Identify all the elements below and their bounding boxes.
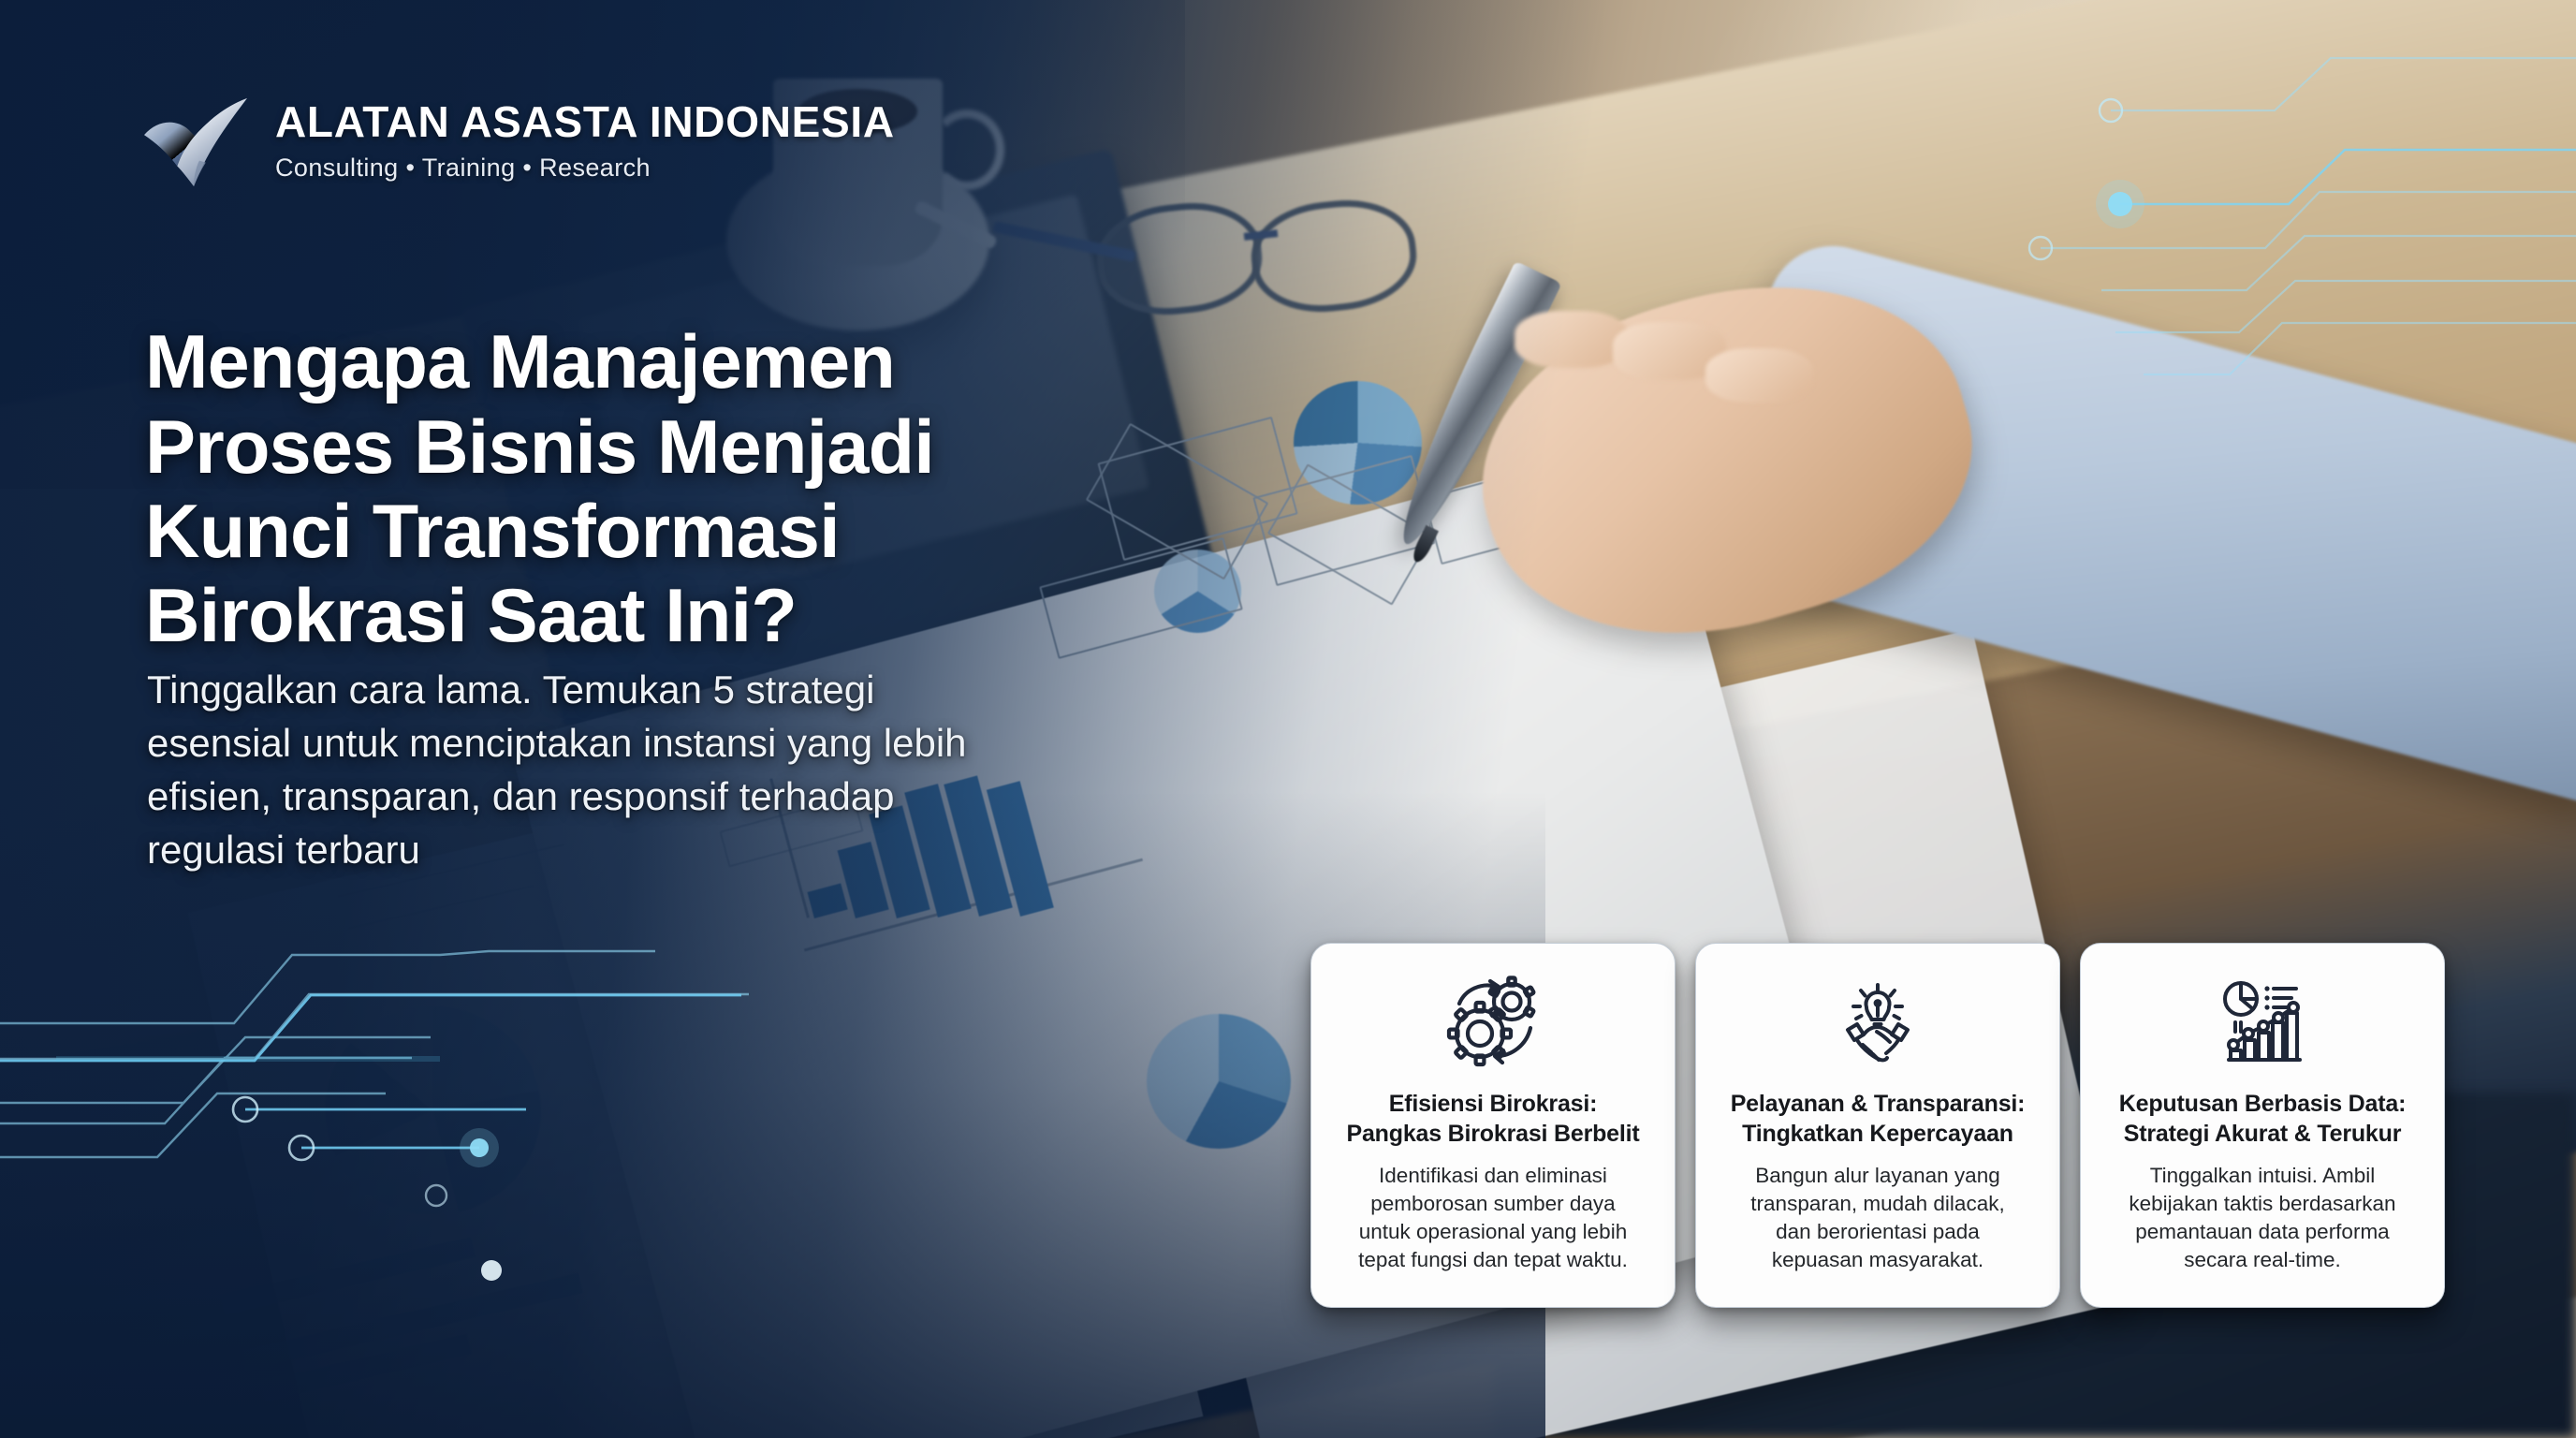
brand-tagline: Consulting • Training • Research: [275, 154, 895, 183]
card-body: Bangun alur layanan yang transparan, mud…: [1750, 1162, 2004, 1274]
card-body-line-4: secara real-time.: [2184, 1248, 2341, 1271]
card-title: Efisiensi Birokrasi: Pangkas Birokrasi B…: [1347, 1090, 1640, 1149]
card-title-line-1: Pelayanan & Transparansi:: [1731, 1091, 2026, 1117]
card-body-line-2: pemborosan sumber daya: [1370, 1192, 1615, 1215]
subhead-line-3: efisien, transparan, dan responsif terha…: [147, 770, 1186, 823]
card-body: Identifikasi dan eliminasi pemborosan su…: [1358, 1162, 1628, 1274]
brand-name: ALATAN ASASTA INDONESIA: [275, 100, 895, 145]
data-analytics-chart-icon: [2210, 972, 2315, 1077]
gears-process-icon: [1441, 972, 1545, 1077]
card-body-line-1: Tinggalkan intuisi. Ambil: [2150, 1164, 2376, 1187]
feature-card-list: Efisiensi Birokrasi: Pangkas Birokrasi B…: [1310, 943, 2445, 1308]
card-title-line-2: Strategi Akurat & Terukur: [2124, 1121, 2401, 1147]
card-body-line-1: Bangun alur layanan yang: [1755, 1164, 1999, 1187]
card-title: Keputusan Berbasis Data: Strategi Akurat…: [2119, 1090, 2406, 1149]
card-title-line-1: Efisiensi Birokrasi:: [1389, 1091, 1597, 1117]
page-subtitle: Tinggalkan cara lama. Temukan 5 strategi…: [147, 663, 1186, 876]
card-body-line-4: tepat fungsi dan tepat waktu.: [1358, 1248, 1628, 1271]
card-body-line-1: Identifikasi dan eliminasi: [1379, 1164, 1607, 1187]
card-body-line-3: untuk operasional yang lebih: [1359, 1220, 1627, 1243]
subhead-line-1: Tinggalkan cara lama. Temukan 5 strategi: [147, 663, 1186, 716]
headline-line-1: Mengapa Manajemen: [145, 320, 1156, 404]
subhead-line-2: esensial untuk menciptakan instansi yang…: [147, 716, 1186, 770]
card-title-line-2: Pangkas Birokrasi Berbelit: [1347, 1121, 1640, 1147]
card-title-line-1: Keputusan Berbasis Data:: [2119, 1091, 2406, 1117]
card-title-line-2: Tingkatkan Kepercayaan: [1742, 1121, 2013, 1147]
card-body-line-3: dan berorientasi pada: [1776, 1220, 1980, 1243]
headline-line-3: Kunci Transformasi: [145, 490, 1156, 574]
poster-canvas: ALATAN ASASTA INDONESIA Consulting • Tra…: [0, 0, 2576, 1438]
handshake-lightbulb-icon: [1825, 972, 1930, 1077]
feature-card-pelayanan-transparansi[interactable]: Pelayanan & Transparansi: Tingkatkan Kep…: [1695, 943, 2060, 1308]
brand-logo[interactable]: ALATAN ASASTA INDONESIA Consulting • Tra…: [140, 89, 895, 194]
card-body: Tinggalkan intuisi. Ambil kebijakan takt…: [2129, 1162, 2395, 1274]
card-body-line-2: transparan, mudah dilacak,: [1750, 1192, 2004, 1215]
feature-card-keputusan-berbasis-data[interactable]: Keputusan Berbasis Data: Strategi Akurat…: [2080, 943, 2445, 1308]
card-body-line-2: kebijakan taktis berdasarkan: [2129, 1192, 2395, 1215]
card-body-line-4: kepuasan masyarakat.: [1772, 1248, 1983, 1271]
subhead-line-4: regulasi terbaru: [147, 823, 1186, 876]
card-title: Pelayanan & Transparansi: Tingkatkan Kep…: [1731, 1090, 2026, 1149]
headline-line-4: Birokrasi Saat Ini?: [145, 574, 1156, 658]
checkmark-bird-logo-icon: [140, 89, 251, 194]
headline-line-2: Proses Bisnis Menjadi: [145, 405, 1156, 490]
feature-card-efisiensi-birokrasi[interactable]: Efisiensi Birokrasi: Pangkas Birokrasi B…: [1310, 943, 1676, 1308]
page-title: Mengapa Manajemen Proses Bisnis Menjadi …: [145, 320, 1156, 658]
card-body-line-3: pemantauan data performa: [2135, 1220, 2389, 1243]
